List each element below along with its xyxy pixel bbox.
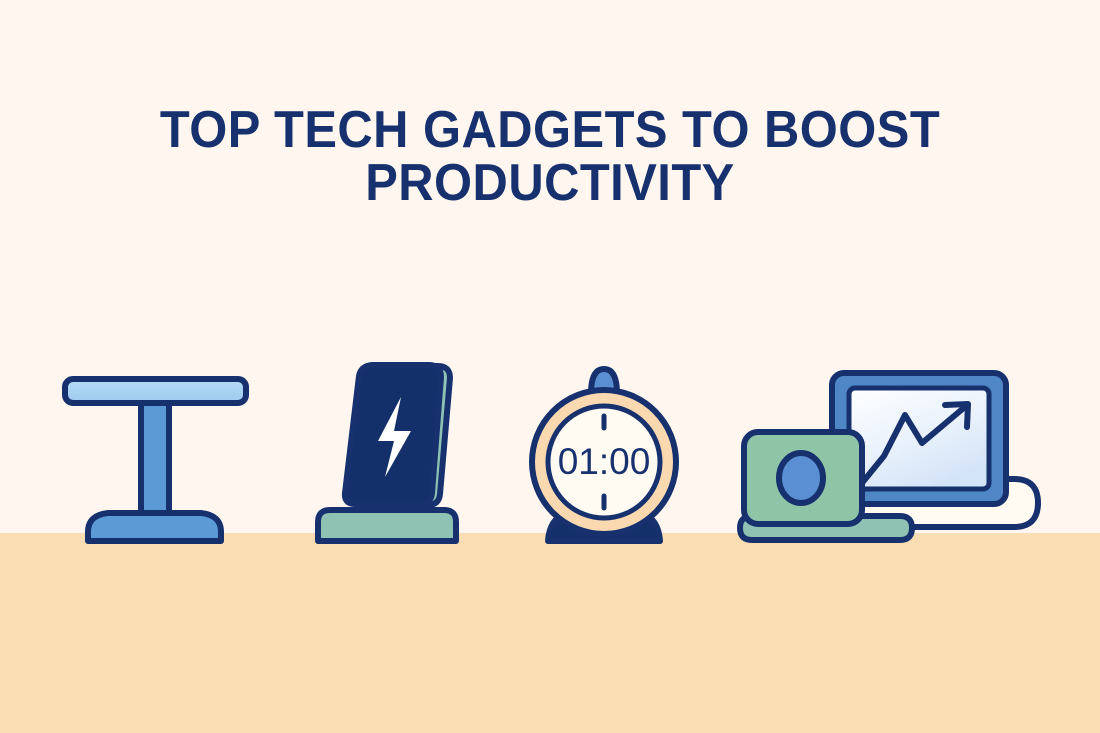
illustration-row: 01:00 bbox=[0, 0, 1100, 733]
standing-desk-icon bbox=[65, 379, 246, 541]
charger-base bbox=[318, 510, 456, 541]
laptop-trackpad-button bbox=[779, 453, 823, 503]
timer-display-value: 01:00 bbox=[558, 441, 651, 482]
wireless-charger-icon bbox=[318, 365, 456, 541]
poster-canvas: TOP TECH GADGETS TO BOOST PRODUCTIVITY bbox=[0, 0, 1100, 733]
desk-column bbox=[141, 395, 169, 520]
laptop-monitor-icon bbox=[740, 373, 1038, 540]
desk-base bbox=[88, 513, 221, 541]
desktop-surface bbox=[65, 379, 246, 403]
